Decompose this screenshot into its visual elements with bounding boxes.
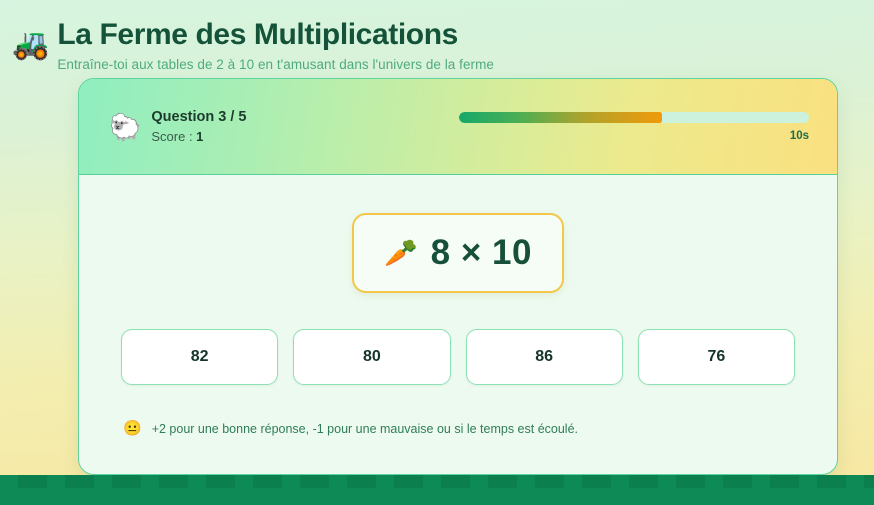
timer-label: 10s [790,130,809,142]
neutral-face-icon: 😐 [123,421,142,436]
score-display: Score : 1 [151,128,246,146]
score-value: 1 [196,129,203,144]
sheep-icon: 🐑 [109,114,141,140]
question-expression: 8 × 10 [431,233,532,273]
hint-row: 😐 +2 pour une bonne réponse, -1 pour une… [121,421,578,436]
answer-option-2[interactable]: 80 [293,329,450,385]
answer-option-1[interactable]: 82 [121,329,278,385]
question-box: 🥕 8 × 10 [352,213,564,293]
answer-option-3[interactable]: 86 [466,329,623,385]
page-header: 🚜 La Ferme des Multiplications Entraîne-… [0,0,874,78]
status-right: 10s [439,112,809,142]
carrot-icon: 🥕 [384,240,418,267]
ground-tab-pattern [0,475,874,488]
status-bar: 🐑 Question 3 / 5 Score : 1 10s [79,79,837,175]
timer-progress-fill [459,112,662,123]
card-body: 🥕 8 × 10 82 80 86 76 😐 +2 pour une bonne… [79,175,837,436]
answer-option-4[interactable]: 76 [638,329,795,385]
status-left: 🐑 Question 3 / 5 Score : 1 [109,107,439,146]
page-subtitle: Entraîne-toi aux tables de 2 à 10 en t'a… [57,57,494,72]
quiz-card: 🐑 Question 3 / 5 Score : 1 10s 🥕 8 × 10 … [78,78,838,475]
ground-strip [0,475,874,505]
header-texts: La Ferme des Multiplications Entraîne-to… [57,14,494,72]
score-label: Score : [151,129,196,144]
status-text-group: Question 3 / 5 Score : 1 [151,107,246,146]
question-counter: Question 3 / 5 [151,107,246,128]
answers-row: 82 80 86 76 [121,329,795,385]
timer-progress-track [459,112,809,123]
page-title: La Ferme des Multiplications [57,18,494,53]
hint-text: +2 pour une bonne réponse, -1 pour une m… [152,422,578,436]
tractor-icon: 🚜 [12,30,49,60]
